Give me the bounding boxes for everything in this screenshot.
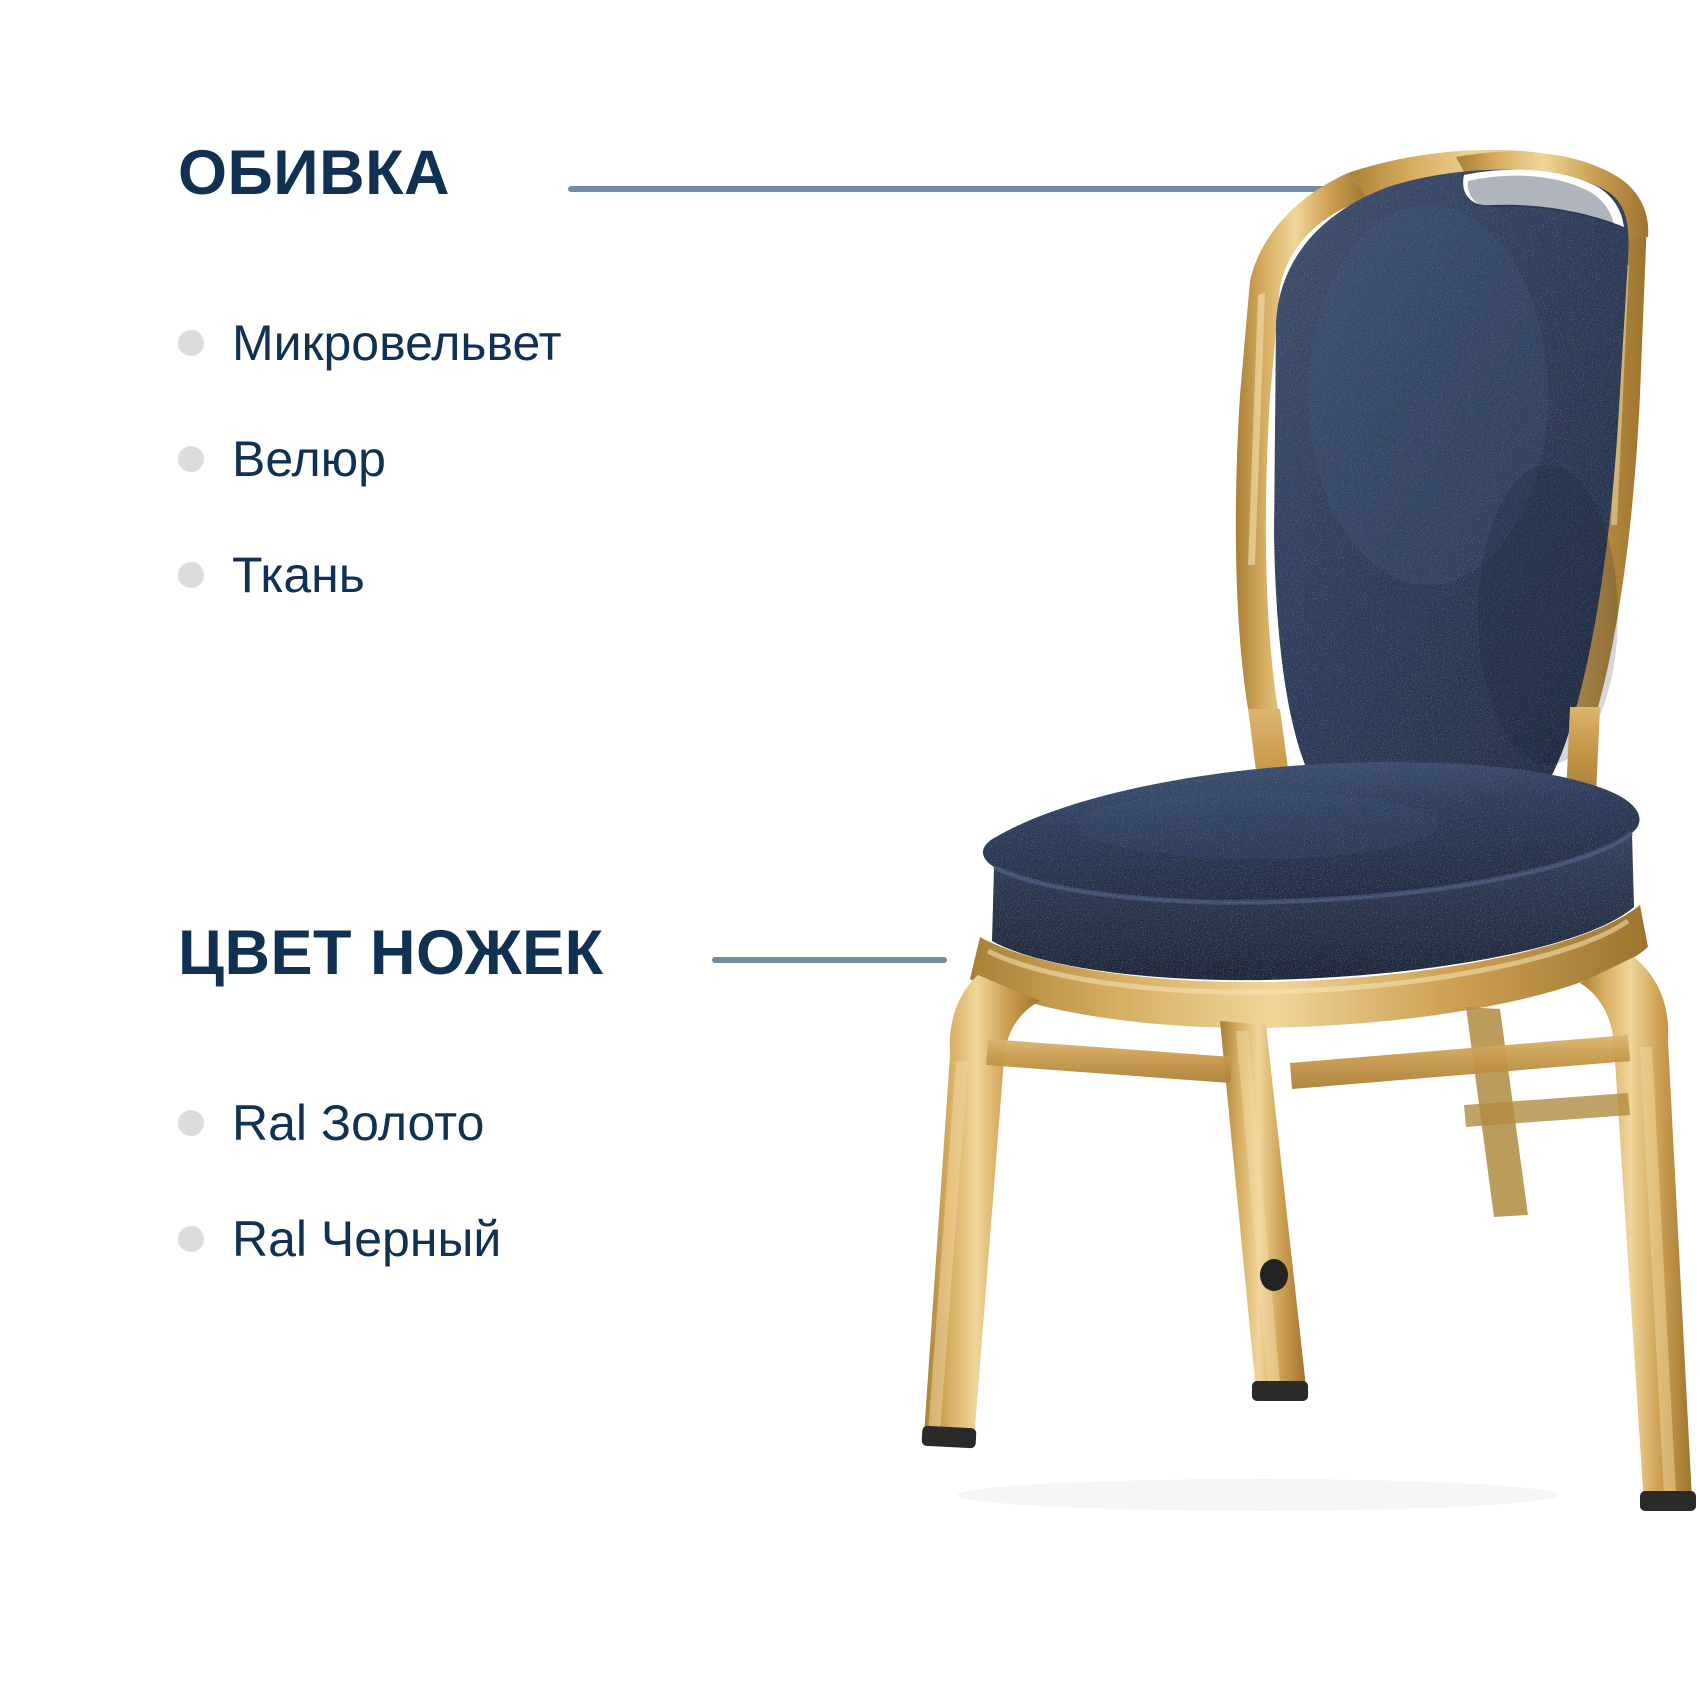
option-list-upholstery: Микровельвет Велюр Ткань bbox=[232, 285, 562, 633]
option-label: Микровельвет bbox=[232, 318, 562, 368]
list-item: Велюр bbox=[232, 401, 562, 517]
option-label: Велюр bbox=[232, 434, 386, 484]
section-heading-upholstery: ОБИВКА bbox=[178, 140, 450, 206]
section-leg-color: ЦВЕТ НОЖЕК bbox=[178, 920, 604, 986]
infographic-canvas: ОБИВКА Микровельвет Велюр Ткань ЦВЕТ НОЖ… bbox=[0, 0, 1700, 1700]
leg-floor-cap bbox=[922, 1426, 977, 1449]
chair-stretchers bbox=[986, 1035, 1630, 1127]
list-item: Ткань bbox=[232, 517, 562, 633]
bullet-dot-icon bbox=[178, 1226, 204, 1252]
bullet-dot-icon bbox=[178, 1110, 204, 1136]
leg-floor-cap bbox=[1640, 1491, 1696, 1511]
option-label: Ral Золото bbox=[232, 1098, 484, 1148]
section-upholstery: ОБИВКА bbox=[178, 140, 450, 206]
chair-product-image bbox=[828, 95, 1700, 1515]
list-item: Микровельвет bbox=[232, 285, 562, 401]
option-list-leg-color: Ral Золото Ral Черный bbox=[232, 1065, 501, 1297]
list-item: Ral Золото bbox=[232, 1065, 501, 1181]
option-label: Ral Черный bbox=[232, 1214, 501, 1264]
leg-floor-cap bbox=[1252, 1381, 1308, 1401]
leg-plug-hole bbox=[1260, 1259, 1288, 1291]
bullet-dot-icon bbox=[178, 446, 204, 472]
chair-illustration bbox=[828, 95, 1700, 1515]
list-item: Ral Черный bbox=[232, 1181, 501, 1297]
bullet-dot-icon bbox=[178, 562, 204, 588]
bullet-dot-icon bbox=[178, 330, 204, 356]
option-label: Ткань bbox=[232, 550, 365, 600]
section-heading-leg-color: ЦВЕТ НОЖЕК bbox=[178, 920, 604, 986]
chair-seat-cushion bbox=[983, 762, 1640, 980]
floor-shadow bbox=[958, 1479, 1558, 1511]
